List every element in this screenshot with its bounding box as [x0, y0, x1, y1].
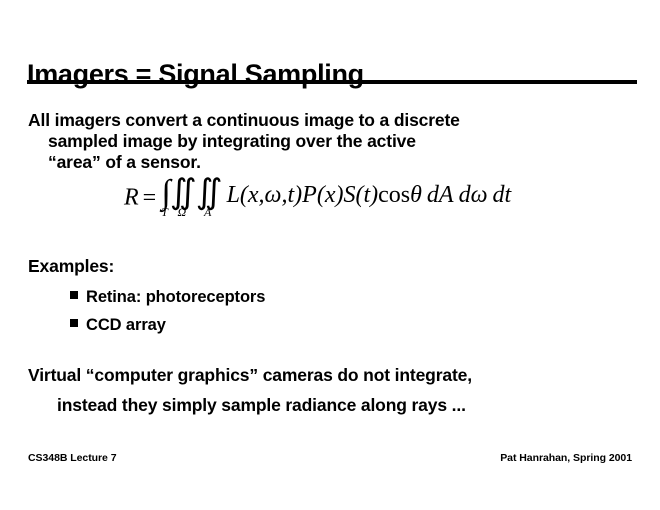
- equation-equals: =: [139, 185, 161, 211]
- title-divider: [27, 80, 637, 84]
- differential-time: dt: [493, 182, 512, 208]
- list-item: Retina: photoreceptors: [70, 288, 265, 307]
- closing-line-2: instead they simply sample radiance alon…: [28, 390, 638, 420]
- radiance-term: L(x,ω,t): [227, 182, 303, 208]
- shutter-term: S(t): [343, 182, 378, 208]
- closing-line-1: Virtual “computer graphics” cameras do n…: [28, 365, 472, 385]
- integral-symbol: ∬: [170, 180, 194, 206]
- rendering-equation: R=∫T∬Ω∬AL(x,ω,t)P(x)S(t)cosθdAdωdt: [124, 180, 511, 218]
- integral-area: ∬A: [196, 180, 220, 218]
- examples-list: Retina: photoreceptors CCD array: [70, 288, 265, 344]
- theta-symbol: θ: [410, 182, 422, 208]
- slide-canvas: Imagers = Signal Sampling All imagers co…: [0, 0, 660, 510]
- integral-time: ∫T: [161, 180, 168, 218]
- footer-course-label: CS348B Lecture 7: [28, 452, 117, 464]
- examples-heading: Examples:: [28, 256, 114, 277]
- list-item-label: Retina: photoreceptors: [86, 288, 265, 307]
- integral-subscript: T: [161, 207, 168, 218]
- pixel-filter-term: P(x): [302, 182, 343, 208]
- integral-symbol: ∬: [196, 180, 220, 206]
- intro-line-2: sampled image by integrating over the ac…: [28, 131, 628, 152]
- slide-footer: CS348B Lecture 7 Pat Hanrahan, Spring 20…: [28, 452, 632, 464]
- differential-area: dA: [427, 182, 454, 208]
- integral-symbol: ∫: [161, 180, 168, 206]
- footer-author-label: Pat Hanrahan, Spring 2001: [500, 452, 632, 464]
- equation-lhs: R: [124, 185, 139, 211]
- intro-line-3: “area” of a sensor.: [28, 152, 628, 173]
- intro-paragraph: All imagers convert a continuous image t…: [28, 110, 628, 173]
- square-bullet-icon: [70, 291, 78, 299]
- square-bullet-icon: [70, 319, 78, 327]
- cosine-operator: cos: [378, 182, 410, 208]
- list-item: CCD array: [70, 316, 265, 335]
- list-item-label: CCD array: [86, 316, 166, 335]
- integral-solid-angle: ∬Ω: [170, 180, 194, 218]
- closing-paragraph: Virtual “computer graphics” cameras do n…: [28, 360, 638, 420]
- differential-solid-angle: dω: [459, 182, 488, 208]
- equation-integrand: L(x,ω,t)P(x)S(t)cosθdAdωdt: [221, 183, 512, 207]
- page-title: Imagers = Signal Sampling: [27, 60, 364, 90]
- intro-line-1: All imagers convert a continuous image t…: [28, 110, 460, 130]
